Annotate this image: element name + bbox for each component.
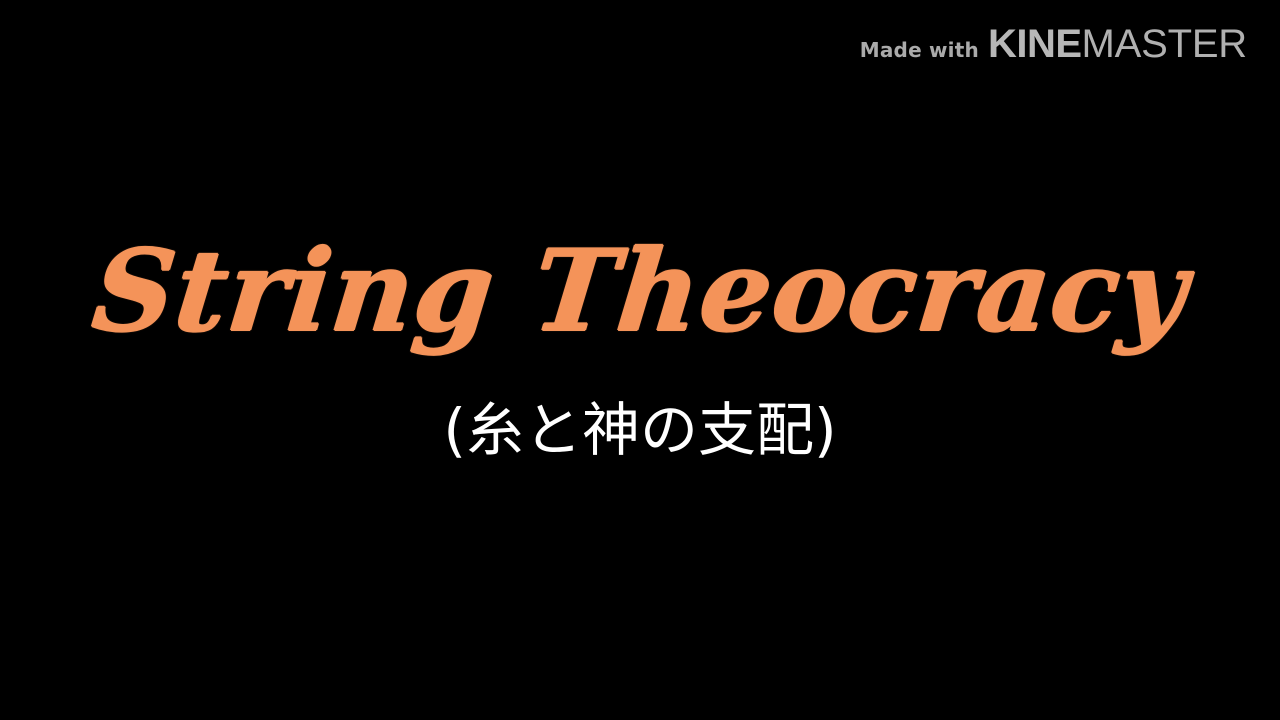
page-title: String Theocracy [87, 226, 1194, 358]
kinemaster-watermark: Made with KINE MASTER [860, 24, 1247, 64]
watermark-made-with-label: Made with [860, 40, 979, 60]
title-block: String Theocracy [0, 226, 1280, 358]
watermark-brand-master: MASTER [1082, 24, 1247, 64]
subtitle-block: (糸と神の支配) [0, 396, 1280, 466]
page-subtitle-japanese: (糸と神の支配) [443, 396, 836, 466]
video-title-card: Made with KINE MASTER String Theocracy (… [0, 0, 1280, 720]
watermark-brand-kine: KINE [988, 24, 1082, 64]
